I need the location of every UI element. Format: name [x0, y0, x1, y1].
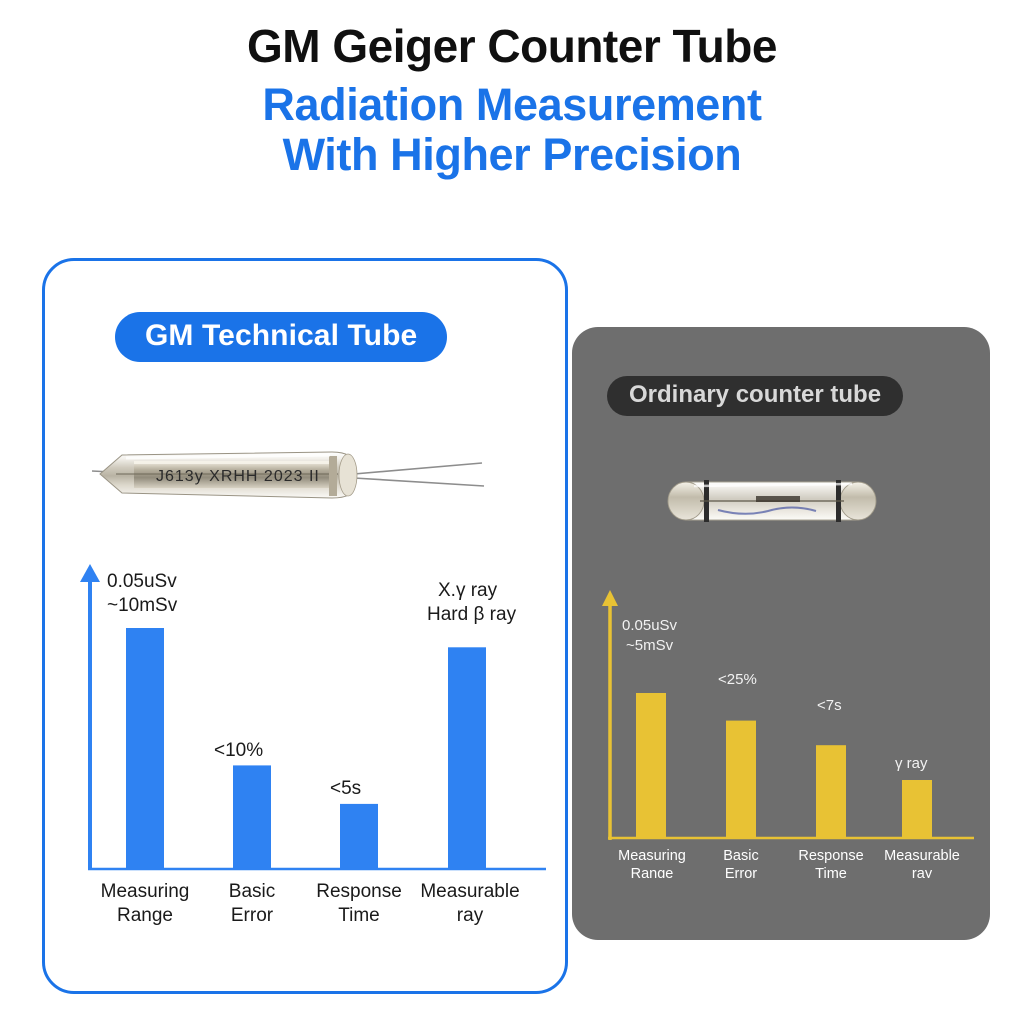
svg-text:Error: Error [725, 866, 757, 878]
page-subtitle-line1: Radiation Measurement [262, 79, 761, 130]
bar-value-label-measurable-ray-ordinary: γ ray [895, 755, 928, 772]
svg-text:0.05uSv: 0.05uSv [107, 571, 177, 592]
page-header: GM Geiger Counter Tube Radiation Measure… [0, 0, 1024, 180]
svg-text:ray: ray [912, 866, 933, 878]
gm-tube-marking-text: J613y XRHH 2023 II [156, 468, 320, 485]
bar-value-label-measuring-range-ordinary: 0.05uSv ~5mSv [622, 617, 678, 654]
bar-measuring-range-ordinary [636, 693, 666, 838]
ordinary-tube-photo [660, 470, 884, 532]
svg-text:γ ray: γ ray [895, 755, 928, 772]
bar-basic-error [233, 765, 271, 869]
svg-text:<25%: <25% [718, 671, 757, 688]
gm-technical-tube-badge: GM Technical Tube [115, 312, 447, 362]
gm-technical-tube-chart: 0.05uSv ~10mSv <10% <5s X.γ ray Hard β r… [78, 560, 548, 940]
bar-value-label-basic-error-ordinary: <25% [718, 671, 757, 688]
page-subtitle-line2: With Higher Precision [0, 130, 1024, 180]
svg-text:X.γ ray: X.γ ray [438, 580, 498, 601]
chart-category-labels-ordinary: Measuring Range Basic Error Response Tim… [618, 848, 960, 878]
svg-text:<10%: <10% [214, 740, 263, 761]
chart-category-labels: Measuring Range Basic Error Response Tim… [101, 881, 520, 926]
svg-text:Hard β ray: Hard β ray [427, 604, 517, 625]
svg-text:~10mSv: ~10mSv [107, 595, 178, 616]
bar-measurable-ray [448, 647, 486, 869]
svg-text:Basic: Basic [723, 848, 758, 864]
svg-text:Measurable: Measurable [884, 848, 960, 864]
bar-value-label-measurable-ray: X.γ ray Hard β ray [427, 580, 517, 625]
svg-text:Range: Range [631, 866, 674, 878]
bar-response-time-ordinary [816, 745, 846, 838]
bar-value-label-measuring-range: 0.05uSv ~10mSv [107, 571, 178, 616]
bar-value-label-response-time: <5s [330, 778, 361, 799]
page-title: GM Geiger Counter Tube [0, 22, 1024, 72]
svg-text:0.05uSv: 0.05uSv [622, 617, 678, 634]
bar-measuring-range [126, 628, 164, 869]
bar-response-time [340, 804, 378, 869]
svg-text:Time: Time [338, 905, 380, 926]
svg-text:ray: ray [457, 905, 484, 926]
bar-value-label-basic-error: <10% [214, 740, 263, 761]
bar-measurable-ray-ordinary [902, 780, 932, 838]
svg-text:Response: Response [798, 848, 863, 864]
svg-text:Error: Error [231, 905, 274, 926]
chart-y-axis [80, 564, 100, 870]
ordinary-counter-tube-badge: Ordinary counter tube [607, 376, 903, 416]
gm-tube-photo: J613y XRHH 2023 II [86, 438, 486, 514]
svg-text:Response: Response [316, 881, 402, 902]
svg-text:Basic: Basic [229, 881, 275, 902]
svg-text:<5s: <5s [330, 778, 361, 799]
svg-text:Measurable: Measurable [420, 881, 519, 902]
svg-text:Measuring: Measuring [101, 881, 190, 902]
svg-text:Time: Time [815, 866, 847, 878]
svg-text:~5mSv: ~5mSv [626, 637, 674, 654]
page-subtitle: Radiation Measurement With Higher Precis… [0, 72, 1024, 181]
bar-value-label-response-time-ordinary: <7s [817, 697, 842, 714]
chart-y-axis-ordinary [602, 590, 618, 840]
bar-basic-error-ordinary [726, 721, 756, 839]
svg-text:<7s: <7s [817, 697, 842, 714]
ordinary-counter-tube-chart: 0.05uSv ~5mSv <25% <7s γ ray Measuring R… [600, 588, 976, 878]
svg-text:Range: Range [117, 905, 173, 926]
svg-text:Measuring: Measuring [618, 848, 686, 864]
